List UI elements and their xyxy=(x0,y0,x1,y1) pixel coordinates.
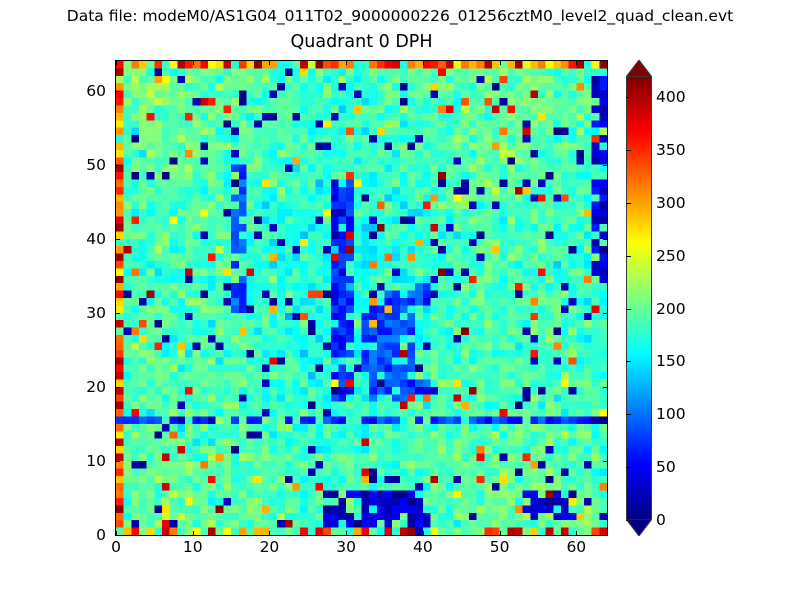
page-title: Quadrant 0 DPH xyxy=(115,31,608,53)
x-axis-tick-label: 20 xyxy=(239,538,299,556)
colorbar-tick xyxy=(626,361,631,362)
colorbar-tick xyxy=(626,414,631,415)
x-axis-tick-top xyxy=(500,61,501,65)
x-axis-tick-top xyxy=(116,61,117,65)
x-axis-tick-top xyxy=(423,61,424,65)
y-axis-tick-right xyxy=(603,91,607,92)
x-axis-tick-label: 60 xyxy=(546,538,606,556)
y-axis-tick-label: 60 xyxy=(46,82,106,100)
x-axis-tick-label: 50 xyxy=(470,538,530,556)
x-axis-tick xyxy=(269,531,270,535)
y-axis-tick xyxy=(116,91,120,92)
y-axis-tick-right xyxy=(603,387,607,388)
colorbar-tick-label: 300 xyxy=(656,194,686,212)
colorbar-tick-label: 200 xyxy=(656,300,686,318)
y-axis-tick-right xyxy=(603,313,607,314)
x-axis-tick-top xyxy=(346,61,347,65)
colorbar-tick-label: 50 xyxy=(656,458,676,476)
x-axis-tick-label: 30 xyxy=(316,538,376,556)
x-axis-tick-label: 40 xyxy=(393,538,453,556)
y-axis-tick-right xyxy=(603,239,607,240)
colorbar-tick-label: 100 xyxy=(656,405,686,423)
x-axis-tick-top xyxy=(193,61,194,65)
y-axis-tick-right xyxy=(603,461,607,462)
colorbar-tick-label: 350 xyxy=(656,141,686,159)
colorbar-tick xyxy=(626,203,631,204)
figure-canvas: Data file: modeM0/AS1G04_011T02_90000002… xyxy=(0,0,800,600)
y-axis-tick-label: 50 xyxy=(46,156,106,174)
x-axis-tick xyxy=(193,531,194,535)
y-axis-tick-label: 0 xyxy=(46,526,106,544)
x-axis-tick-top xyxy=(576,61,577,65)
y-axis-tick xyxy=(116,387,120,388)
colorbar-tick xyxy=(626,467,631,468)
y-axis-tick-label: 20 xyxy=(46,378,106,396)
y-axis-tick xyxy=(116,165,120,166)
x-axis-tick xyxy=(500,531,501,535)
y-axis-tick xyxy=(116,461,120,462)
x-axis-tick-top xyxy=(269,61,270,65)
colorbar-tick xyxy=(626,97,631,98)
x-axis-tick xyxy=(576,531,577,535)
colorbar-tick-label: 250 xyxy=(656,247,686,265)
x-axis-tick xyxy=(423,531,424,535)
colorbar-tick-label: 0 xyxy=(656,511,666,529)
dph-heatmap-image[interactable] xyxy=(116,61,607,535)
colorbar-tick xyxy=(626,309,631,310)
colorbar-gradient xyxy=(626,76,652,520)
colorbar-under-arrow-icon xyxy=(626,519,652,536)
colorbar-over-arrow-icon xyxy=(626,60,652,77)
y-axis-tick xyxy=(116,239,120,240)
y-axis-tick xyxy=(116,313,120,314)
heatmap-axes[interactable] xyxy=(115,60,608,536)
data-file-title: Data file: modeM0/AS1G04_011T02_90000002… xyxy=(0,7,800,26)
colorbar-tick xyxy=(626,150,631,151)
colorbar[interactable] xyxy=(626,60,652,536)
colorbar-tick xyxy=(626,256,631,257)
y-axis-tick-label: 30 xyxy=(46,304,106,322)
y-axis-tick-label: 40 xyxy=(46,230,106,248)
colorbar-gradient-canvas xyxy=(627,77,651,519)
colorbar-tick-label: 400 xyxy=(656,88,686,106)
colorbar-tick-label: 150 xyxy=(656,352,686,370)
x-axis-tick xyxy=(346,531,347,535)
colorbar-tick xyxy=(626,520,631,521)
y-axis-tick xyxy=(116,535,120,536)
y-axis-tick-label: 10 xyxy=(46,452,106,470)
y-axis-tick-right xyxy=(603,165,607,166)
x-axis-tick-label: 10 xyxy=(163,538,223,556)
y-axis-tick-right xyxy=(603,535,607,536)
